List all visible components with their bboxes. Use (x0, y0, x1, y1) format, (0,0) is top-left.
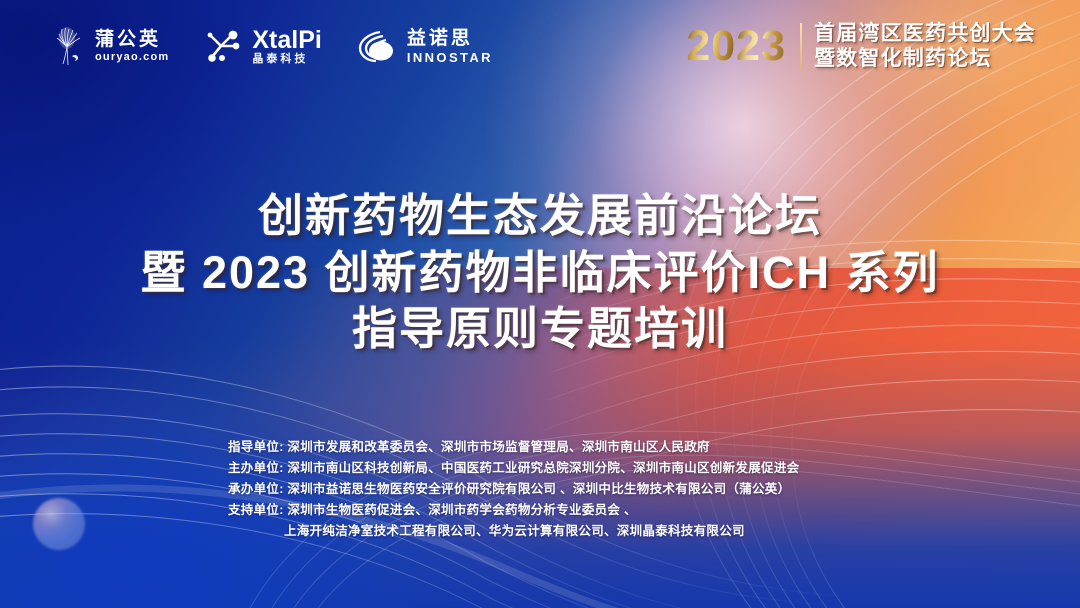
main-title: 创新药物生态发展前沿论坛 暨 2023 创新药物非临床评价ICH 系列 指导原则… (0, 188, 1080, 358)
logo-ouryao[interactable]: 蒲公英 ouryao.com (52, 24, 169, 70)
badge-line-2: 暨数智化制药论坛 (814, 47, 1036, 71)
badge-year: 2023 (686, 25, 788, 68)
organizer-line-support-cont: 上海开纯洁净室技术工程有限公司、华为云计算有限公司、深圳晶泰科技有限公司 (228, 521, 799, 542)
organizer-list: 指导单位: 深圳市发展和改革委员会、深圳市市场监督管理局、深圳市南山区人民政府 … (228, 437, 799, 542)
conference-banner: 蒲公英 ouryao.com XtalPi 晶泰科技 (0, 0, 1080, 608)
title-line-1: 创新药物生态发展前沿论坛 (0, 188, 1080, 245)
title-line-2: 暨 2023 创新药物非临床评价ICH 系列 (0, 245, 1080, 302)
badge-divider (800, 23, 802, 71)
logo-innostar[interactable]: 益诺思 INNOSTAR (356, 24, 493, 70)
organizer-line-support: 支持单位: 深圳市生物医药促进会、深圳市药学会药物分析专业委员会 、 (228, 500, 799, 521)
badge-line-1: 首届湾区医药共创大会 (814, 22, 1036, 46)
logo-xtalpi-cn: 晶泰科技 (252, 53, 321, 66)
partner-logo-row: 蒲公英 ouryao.com XtalPi 晶泰科技 (52, 24, 493, 70)
logo-ouryao-en: ouryao.com (95, 51, 169, 64)
molecule-node-icon (203, 27, 243, 67)
swirl-globe-icon (356, 27, 398, 67)
conference-badge: 2023 首届湾区医药共创大会 暨数智化制药论坛 (686, 22, 1036, 72)
organizer-line-host: 主办单位: 深圳市南山区科技创新局、中国医药工业研究总院深圳分院、深圳市南山区创… (228, 458, 799, 479)
glowing-orb (33, 498, 85, 550)
logo-ouryao-cn: 蒲公英 (95, 30, 169, 51)
logo-innostar-en: INNOSTAR (407, 50, 493, 66)
organizer-line-guidance: 指导单位: 深圳市发展和改革委员会、深圳市市场监督管理局、深圳市南山区人民政府 (228, 437, 799, 458)
badge-text-lines: 首届湾区医药共创大会 暨数智化制药论坛 (814, 22, 1036, 72)
title-line-3: 指导原则专题培训 (0, 301, 1080, 358)
logo-innostar-cn: 益诺思 (407, 29, 493, 50)
dandelion-icon (52, 25, 86, 69)
organizer-line-undertaker: 承办单位: 深圳市益诺思生物医药安全评价研究院有限公司 、深圳中比生物技术有限公… (228, 479, 799, 500)
logo-xtalpi[interactable]: XtalPi 晶泰科技 (203, 24, 321, 70)
logo-xtalpi-en: XtalPi (252, 28, 321, 53)
